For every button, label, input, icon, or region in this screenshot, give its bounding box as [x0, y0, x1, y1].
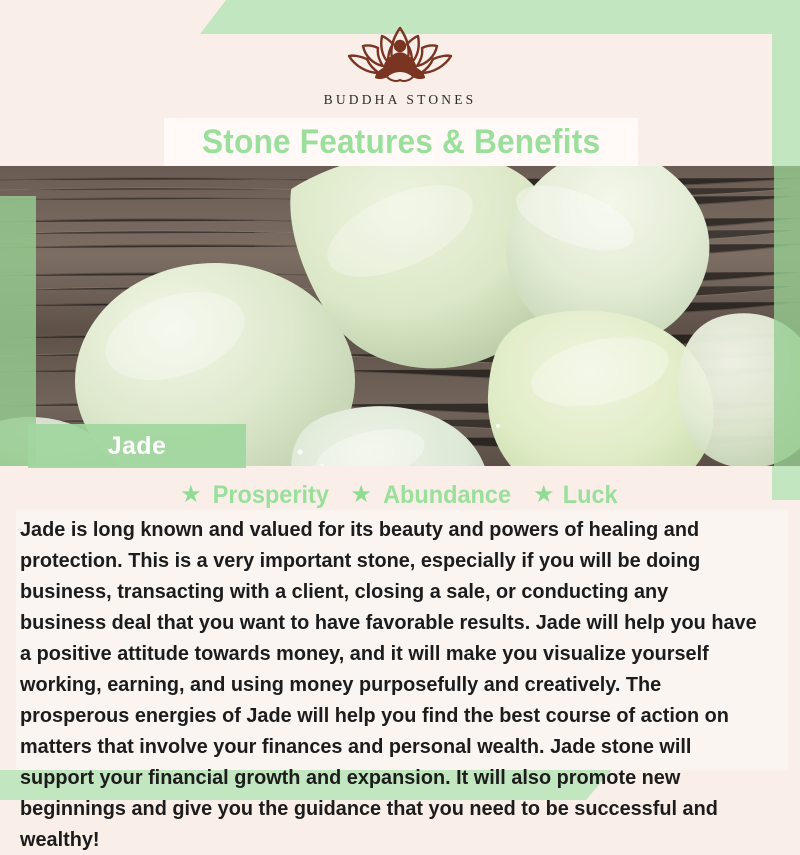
- benefit-item: ★ Prosperity: [180, 481, 332, 510]
- benefit-item: ★ Abundance: [350, 481, 515, 510]
- benefit-label: Abundance: [383, 481, 511, 510]
- stone-name-label: Jade: [108, 432, 167, 461]
- description-panel: Jade is long known and valued for its be…: [16, 510, 788, 770]
- benefit-label: Prosperity: [212, 481, 328, 510]
- stone-name-banner: Jade: [28, 424, 246, 468]
- benefits-row: ★ Prosperity ★ Abundance ★ Luck: [0, 478, 800, 512]
- benefit-item: ★ Luck: [533, 481, 620, 510]
- star-icon: ★: [533, 483, 555, 507]
- page-title: Stone Features & Benefits: [202, 123, 600, 162]
- photo-right-green-veil: [774, 166, 800, 466]
- jade-stones-illustration: [0, 166, 800, 466]
- star-icon: ★: [350, 483, 372, 507]
- hero-photo-jade-stones: [0, 166, 800, 466]
- star-icon: ★: [180, 483, 202, 507]
- description-paragraph: Jade is long known and valued for its be…: [20, 514, 757, 855]
- lotus-meditation-figure-icon: [325, 24, 475, 86]
- benefit-label: Luck: [563, 481, 618, 510]
- title-banner: Stone Features & Benefits: [164, 118, 638, 166]
- brand-header: BUDDHA STONES: [0, 0, 800, 118]
- brand-name: BUDDHA STONES: [324, 92, 477, 108]
